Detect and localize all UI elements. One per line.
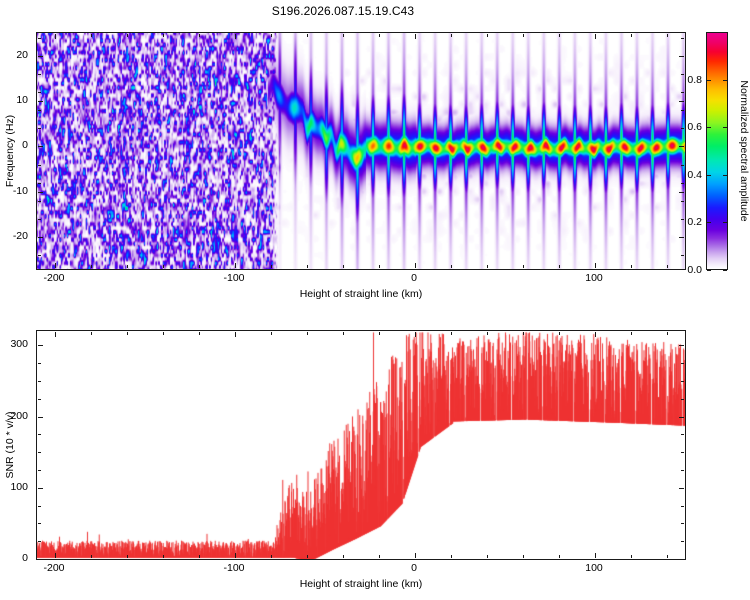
y-tick-minor-right (681, 255, 684, 256)
spectrogram-image (37, 33, 685, 269)
x-tick-minor-top (343, 34, 344, 37)
y-tick-label: -20 (0, 230, 28, 242)
y-tick-major (38, 488, 43, 489)
y-tick-minor-right (681, 434, 684, 435)
y-tick-label: 100 (0, 481, 28, 493)
colorbar-tick (707, 222, 711, 223)
y-tick-label: 10 (0, 94, 28, 106)
colorbar-tick (723, 222, 727, 223)
y-tick-minor (38, 470, 41, 471)
colorbar[interactable] (706, 32, 728, 270)
y-tick-minor-right (681, 452, 684, 453)
y-tick-minor-right (681, 523, 684, 524)
snr-x-axis-title: Height of straight line (km) (300, 578, 423, 590)
colorbar-tick (723, 127, 727, 128)
x-tick-minor (451, 555, 452, 558)
x-tick-minor (163, 555, 164, 558)
figure-root: S196.2026.087.15.19.C43 -200-10001002010… (0, 0, 750, 600)
y-tick-major (38, 237, 43, 238)
colorbar-tick (707, 127, 711, 128)
snr-plot[interactable] (36, 330, 686, 560)
y-tick-major (38, 146, 43, 147)
y-tick-minor-right (681, 183, 684, 184)
spectrogram-canvas-clip (37, 33, 685, 269)
y-tick-label: 300 (0, 338, 28, 350)
colorbar-tick-label: 0.8 (0, 74, 702, 86)
y-tick-label: 0 (0, 552, 28, 564)
x-tick-label: 100 (585, 562, 603, 574)
x-tick-minor-top (379, 34, 380, 37)
y-tick-minor-right (681, 399, 684, 400)
y-tick-minor-right (681, 110, 684, 111)
y-tick-minor (38, 452, 41, 453)
x-tick-label: -200 (43, 562, 64, 574)
y-tick-minor (38, 201, 41, 202)
y-tick-minor (38, 434, 41, 435)
y-tick-major-right (679, 345, 684, 346)
x-tick-major-top (55, 34, 56, 39)
colorbar-tick (723, 80, 727, 81)
x-tick-major-top (595, 332, 596, 337)
x-tick-minor-top (271, 34, 272, 37)
x-tick-minor-top (271, 332, 272, 335)
x-tick-minor-top (487, 332, 488, 335)
x-tick-minor (631, 555, 632, 558)
x-tick-minor-top (631, 34, 632, 37)
y-tick-minor-right (681, 470, 684, 471)
x-tick-minor (271, 555, 272, 558)
x-tick-minor-top (307, 332, 308, 335)
y-tick-minor (38, 506, 41, 507)
x-tick-major (235, 553, 236, 558)
y-tick-minor-right (681, 381, 684, 382)
y-tick-major (38, 101, 43, 102)
x-tick-minor (667, 555, 668, 558)
x-tick-major-top (55, 332, 56, 337)
x-tick-minor (127, 555, 128, 558)
x-tick-minor-top (379, 332, 380, 335)
x-tick-minor (559, 555, 560, 558)
y-tick-major (38, 417, 43, 418)
y-tick-minor (38, 255, 41, 256)
x-tick-label: 0 (411, 562, 417, 574)
colorbar-tick (707, 80, 711, 81)
y-tick-major-right (679, 417, 684, 418)
x-tick-minor-top (523, 332, 524, 335)
colorbar-title: Normalized spectral amplitude (738, 80, 750, 221)
spectrogram-x-axis-title: Height of straight line (km) (300, 288, 423, 300)
x-tick-major (55, 553, 56, 558)
colorbar-tick (707, 175, 711, 176)
y-tick-minor (38, 399, 41, 400)
x-tick-minor-top (523, 34, 524, 37)
y-tick-major (38, 345, 43, 346)
y-tick-major-right (679, 192, 684, 193)
x-tick-major-top (595, 34, 596, 39)
x-tick-minor-top (451, 332, 452, 335)
x-tick-minor-top (487, 34, 488, 37)
y-tick-major-right (679, 237, 684, 238)
colorbar-tick (723, 175, 727, 176)
y-tick-minor (38, 38, 41, 39)
x-tick-minor-top (199, 332, 200, 335)
y-tick-major-right (679, 56, 684, 57)
x-tick-minor-top (127, 34, 128, 37)
x-tick-minor-top (667, 34, 668, 37)
x-tick-minor-top (163, 332, 164, 335)
snr-trace-line (37, 331, 685, 559)
y-tick-label: 20 (0, 49, 28, 61)
y-tick-minor (38, 92, 41, 93)
x-tick-minor (343, 555, 344, 558)
y-tick-minor (38, 363, 41, 364)
x-tick-minor-top (343, 332, 344, 335)
y-tick-major (38, 559, 43, 560)
y-tick-major-right (679, 146, 684, 147)
y-tick-minor-right (681, 92, 684, 93)
colorbar-tick (707, 270, 711, 271)
x-tick-minor-top (163, 34, 164, 37)
colorbar-tick-label: 0.4 (0, 169, 702, 181)
y-tick-major (38, 56, 43, 57)
y-tick-minor-right (681, 363, 684, 364)
y-tick-minor-right (681, 506, 684, 507)
y-tick-minor-right (681, 38, 684, 39)
x-tick-minor-top (631, 332, 632, 335)
colorbar-tick-label: 0.0 (0, 264, 702, 276)
spectrogram-plot[interactable] (36, 32, 686, 270)
x-tick-minor (379, 555, 380, 558)
y-tick-minor-right (681, 165, 684, 166)
y-tick-major-right (679, 488, 684, 489)
y-tick-major-right (679, 559, 684, 560)
x-tick-minor-top (559, 34, 560, 37)
y-tick-minor (38, 183, 41, 184)
y-tick-major-right (679, 101, 684, 102)
x-tick-minor (91, 555, 92, 558)
x-tick-minor (523, 555, 524, 558)
y-tick-minor (38, 110, 41, 111)
x-tick-minor-top (307, 34, 308, 37)
snr-canvas-clip (37, 331, 685, 559)
x-tick-minor-top (667, 332, 668, 335)
x-tick-minor-top (451, 34, 452, 37)
y-tick-minor-right (681, 541, 684, 542)
snr-y-axis-title: SNR (10 * v/v) (4, 411, 16, 478)
y-tick-minor (38, 165, 41, 166)
x-tick-minor (487, 555, 488, 558)
x-tick-minor-top (559, 332, 560, 335)
colorbar-tick-label: 0.2 (0, 216, 702, 228)
x-tick-major (595, 553, 596, 558)
x-tick-minor-top (91, 332, 92, 335)
x-tick-minor-top (127, 332, 128, 335)
x-tick-major-top (415, 34, 416, 39)
x-tick-minor (199, 555, 200, 558)
x-tick-major-top (235, 34, 236, 39)
y-tick-minor (38, 523, 41, 524)
x-tick-minor-top (199, 34, 200, 37)
x-tick-minor-top (91, 34, 92, 37)
x-tick-major-top (415, 332, 416, 337)
x-tick-minor (307, 555, 308, 558)
x-tick-label: -100 (223, 562, 244, 574)
y-tick-minor-right (681, 201, 684, 202)
colorbar-tick-label: 0.6 (0, 121, 702, 133)
x-tick-major (415, 553, 416, 558)
x-tick-major-top (235, 332, 236, 337)
y-tick-minor (38, 381, 41, 382)
y-tick-major (38, 192, 43, 193)
colorbar-tick (723, 270, 727, 271)
page-title: S196.2026.087.15.19.C43 (0, 4, 686, 18)
y-tick-minor (38, 541, 41, 542)
